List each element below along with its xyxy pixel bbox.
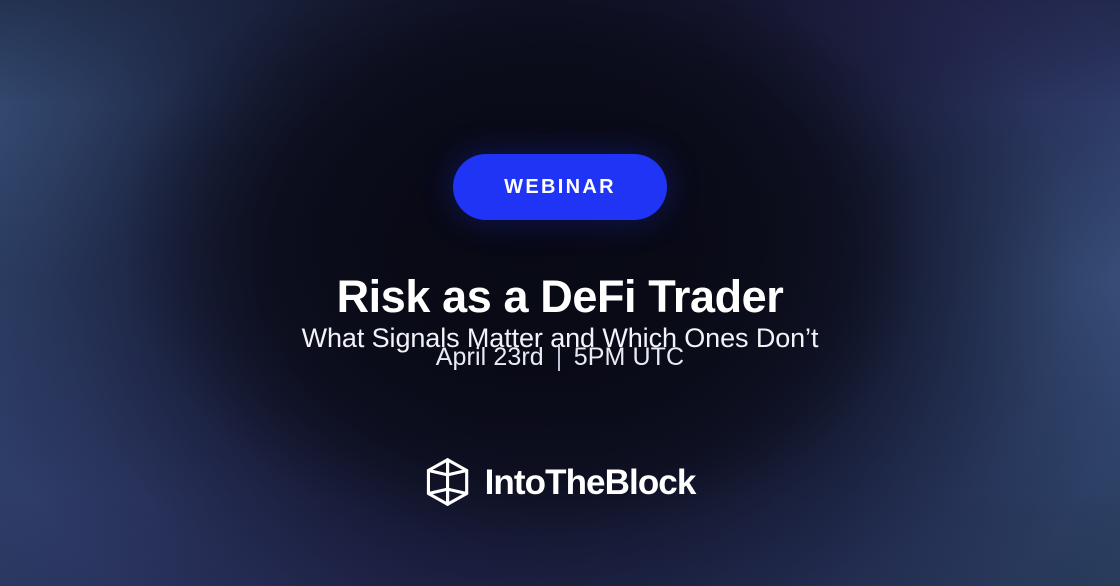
- schedule-line: April 23rd 5PM UTC: [0, 343, 1120, 372]
- page-title: Risk as a DeFi Trader: [0, 273, 1120, 321]
- banner-content: WEBINAR Risk as a DeFi Trader What Signa…: [0, 0, 1120, 586]
- intotheblock-hexagon-cube-icon: [425, 458, 471, 506]
- schedule-date: April 23rd: [436, 343, 544, 372]
- webinar-banner: WEBINAR Risk as a DeFi Trader What Signa…: [0, 0, 1120, 586]
- brand-logo: IntoTheBlock: [425, 458, 696, 506]
- webinar-badge: WEBINAR: [453, 154, 667, 220]
- brand-name: IntoTheBlock: [485, 465, 696, 500]
- webinar-badge-label: WEBINAR: [504, 177, 616, 197]
- schedule-time: 5PM UTC: [574, 343, 684, 372]
- schedule-divider: [558, 344, 560, 371]
